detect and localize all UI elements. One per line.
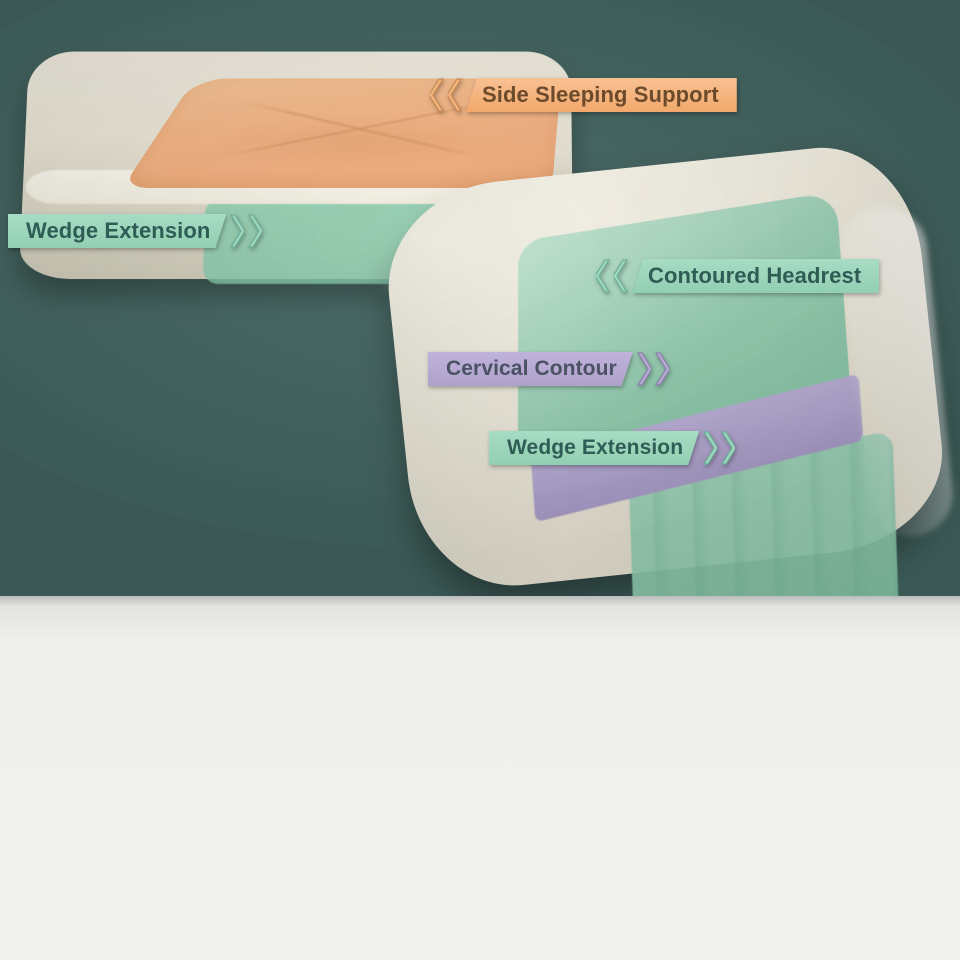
chevron-right-icon [702,431,717,465]
callout-label: Side Sleeping Support [466,78,737,112]
callout-side-sleeping-support[interactable]: Side Sleeping Support [430,78,737,112]
chevron-left-icon [430,78,445,112]
chevron-right-icon [654,352,669,386]
infographic-root: Side Sleeping Support Wedge Extension Co… [0,0,960,960]
chevron-right-icon [247,214,262,248]
chevron-left-icon [596,259,611,293]
callout-label: Wedge Extension [489,431,699,465]
chevron-right-icon [720,431,735,465]
callout-label: Cervical Contour [428,352,633,386]
chevron-right-icon [229,214,244,248]
callout-contoured-headrest[interactable]: Contoured Headrest [596,259,879,293]
chevron-left-icon [614,259,629,293]
legend-panel: Back Sleeping Support the wedge extensio… [0,596,960,960]
callout-cervical-contour[interactable]: Cervical Contour [428,352,669,386]
chevron-left-icon [448,78,463,112]
callout-wedge-extension-top[interactable]: Wedge Extension [8,214,262,248]
callout-wedge-extension-bottom[interactable]: Wedge Extension [489,431,735,465]
callout-label: Wedge Extension [8,214,226,248]
hero-product-image: Side Sleeping Support Wedge Extension Co… [0,0,960,596]
chevron-right-icon [636,352,651,386]
callout-label: Contoured Headrest [632,259,879,293]
